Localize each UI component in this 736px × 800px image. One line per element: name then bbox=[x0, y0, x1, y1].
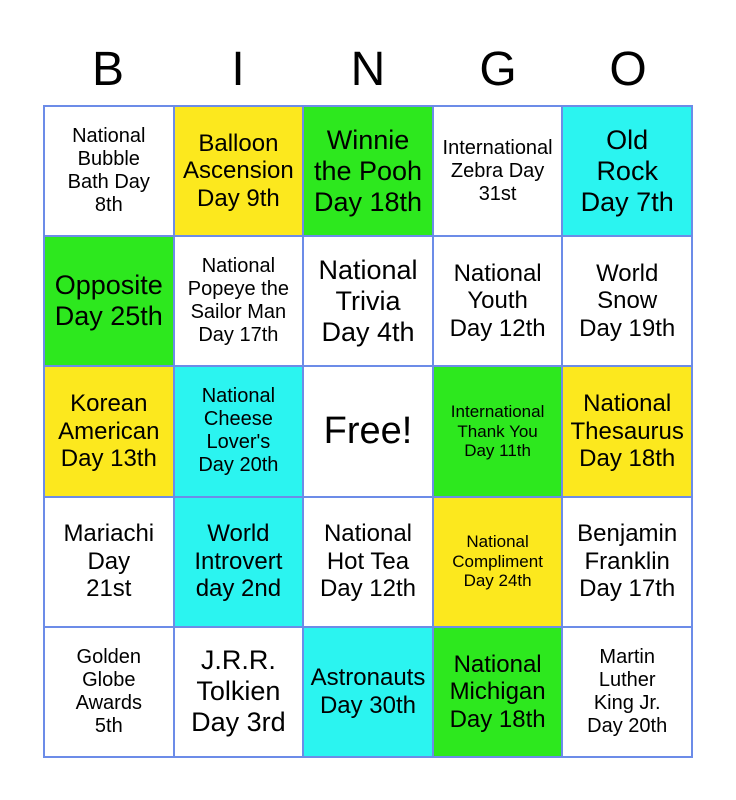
bingo-cell[interactable]: Golden Globe Awards 5th bbox=[45, 628, 175, 758]
bingo-cell[interactable]: Opposite Day 25th bbox=[45, 237, 175, 367]
bingo-cell-label: Benjamin Franklin Day 17th bbox=[567, 520, 687, 603]
bingo-header: BINGO bbox=[43, 38, 693, 102]
bingo-cell-label: National Trivia Day 4th bbox=[308, 255, 428, 348]
bingo-cell-label: Winnie the Pooh Day 18th bbox=[308, 125, 428, 218]
bingo-cell-label: J.R.R. Tolkien Day 3rd bbox=[179, 645, 299, 738]
bingo-cell[interactable]: National Cheese Lover's Day 20th bbox=[175, 367, 305, 497]
bingo-cell[interactable]: Winnie the Pooh Day 18th bbox=[304, 107, 434, 237]
bingo-cell[interactable]: Astronauts Day 30th bbox=[304, 628, 434, 758]
bingo-card: BINGO National Bubble Bath Day 8thBalloo… bbox=[0, 0, 736, 800]
bingo-cell[interactable]: World Snow Day 19th bbox=[563, 237, 693, 367]
bingo-cell[interactable]: National Trivia Day 4th bbox=[304, 237, 434, 367]
bingo-cell-label: National Compliment Day 24th bbox=[438, 532, 558, 591]
bingo-cell[interactable]: Korean American Day 13th bbox=[45, 367, 175, 497]
bingo-cell-label: National Youth Day 12th bbox=[438, 260, 558, 343]
bingo-cell-label: Astronauts Day 30th bbox=[308, 664, 428, 719]
bingo-cell[interactable]: National Thesaurus Day 18th bbox=[563, 367, 693, 497]
bingo-header-letter-0: B bbox=[43, 38, 173, 102]
bingo-cell-label: National Thesaurus Day 18th bbox=[567, 390, 687, 473]
bingo-cell-label: World Snow Day 19th bbox=[567, 260, 687, 343]
bingo-cell[interactable]: Mariachi Day 21st bbox=[45, 498, 175, 628]
bingo-cell-label: Balloon Ascension Day 9th bbox=[179, 130, 299, 213]
bingo-cell-label: National Hot Tea Day 12th bbox=[308, 520, 428, 603]
bingo-cell[interactable]: National Popeye the Sailor Man Day 17th bbox=[175, 237, 305, 367]
bingo-cell-label: Opposite Day 25th bbox=[49, 270, 169, 332]
bingo-cell[interactable]: World Introvert day 2nd bbox=[175, 498, 305, 628]
bingo-cell-label: Korean American Day 13th bbox=[49, 390, 169, 473]
bingo-cell[interactable]: National Compliment Day 24th bbox=[434, 498, 564, 628]
bingo-cell[interactable]: Old Rock Day 7th bbox=[563, 107, 693, 237]
bingo-cell[interactable]: National Bubble Bath Day 8th bbox=[45, 107, 175, 237]
bingo-cell-label: Free! bbox=[308, 410, 428, 454]
bingo-cell-label: National Bubble Bath Day 8th bbox=[49, 125, 169, 217]
bingo-header-letter-4: O bbox=[563, 38, 693, 102]
bingo-cell[interactable]: Martin Luther King Jr. Day 20th bbox=[563, 628, 693, 758]
bingo-grid: National Bubble Bath Day 8thBalloon Asce… bbox=[43, 105, 693, 758]
bingo-header-letter-1: I bbox=[173, 38, 303, 102]
bingo-cell[interactable]: Balloon Ascension Day 9th bbox=[175, 107, 305, 237]
bingo-header-letter-3: G bbox=[433, 38, 563, 102]
bingo-cell-label: International Zebra Day 31st bbox=[438, 137, 558, 206]
bingo-cell[interactable]: National Hot Tea Day 12th bbox=[304, 498, 434, 628]
bingo-cell[interactable]: International Zebra Day 31st bbox=[434, 107, 564, 237]
bingo-cell[interactable]: Benjamin Franklin Day 17th bbox=[563, 498, 693, 628]
bingo-cell-label: National Michigan Day 18th bbox=[438, 651, 558, 734]
bingo-cell-label: World Introvert day 2nd bbox=[179, 520, 299, 603]
bingo-cell-label: National Popeye the Sailor Man Day 17th bbox=[179, 255, 299, 347]
bingo-cell-label: Mariachi Day 21st bbox=[49, 520, 169, 603]
bingo-cell[interactable]: Free! bbox=[304, 367, 434, 497]
bingo-cell[interactable]: National Michigan Day 18th bbox=[434, 628, 564, 758]
bingo-cell[interactable]: J.R.R. Tolkien Day 3rd bbox=[175, 628, 305, 758]
bingo-cell-label: Golden Globe Awards 5th bbox=[49, 646, 169, 738]
bingo-header-letter-2: N bbox=[303, 38, 433, 102]
bingo-cell[interactable]: National Youth Day 12th bbox=[434, 237, 564, 367]
bingo-cell-label: National Cheese Lover's Day 20th bbox=[179, 385, 299, 477]
bingo-cell-label: International Thank You Day 11th bbox=[438, 402, 558, 461]
bingo-cell[interactable]: International Thank You Day 11th bbox=[434, 367, 564, 497]
bingo-cell-label: Old Rock Day 7th bbox=[567, 125, 687, 218]
bingo-cell-label: Martin Luther King Jr. Day 20th bbox=[567, 646, 687, 738]
